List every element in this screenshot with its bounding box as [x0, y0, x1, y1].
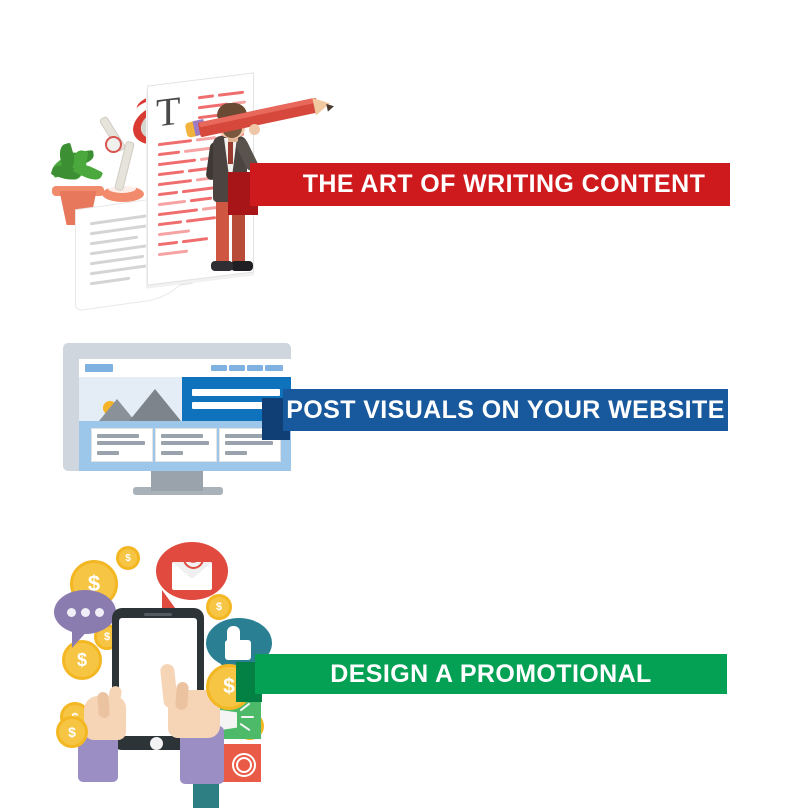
hand-holding-pencil — [249, 124, 260, 135]
shoe-front — [211, 261, 233, 271]
shoe-back — [231, 261, 253, 271]
monitor-screen — [79, 359, 291, 471]
banner-step-1[interactable]: THE ART OF WRITING CONTENT — [250, 163, 730, 206]
mountain-icon — [129, 389, 181, 421]
banner-label-step-3: DESIGN A PROMOTIONAL — [330, 660, 651, 689]
leaf-icon — [73, 160, 103, 183]
infographic-canvas: T — [0, 0, 800, 800]
touch-target-ring-inner — [236, 757, 252, 773]
tie — [228, 142, 233, 164]
website-card-row — [79, 421, 291, 471]
lamp-joint — [105, 136, 122, 153]
dollar-coin-icon: $ — [116, 546, 140, 570]
monitor-frame — [63, 343, 291, 471]
pencil-lead — [326, 102, 335, 111]
tablet-speaker — [144, 613, 172, 616]
banner-label-step-1: THE ART OF WRITING CONTENT — [275, 170, 706, 199]
nav-menu-item[interactable] — [269, 365, 283, 371]
website-logo — [85, 364, 113, 372]
drop-cap-letter: T — [156, 90, 180, 133]
dollar-coin-icon: $ — [206, 594, 232, 620]
website-card[interactable] — [91, 428, 153, 462]
website-card[interactable] — [155, 428, 217, 462]
monitor-neck — [151, 471, 203, 491]
right-finger — [175, 682, 189, 711]
banner-step-3[interactable]: DESIGN A PROMOTIONAL — [255, 654, 727, 694]
thumb-up-fist — [225, 640, 251, 660]
chat-dot — [95, 608, 104, 617]
nav-menu-item[interactable] — [229, 365, 245, 371]
nav-menu-item[interactable] — [247, 365, 263, 371]
panel-text-bar — [192, 389, 280, 396]
banner-step-2[interactable]: POST VISUALS ON YOUR WEBSITE — [283, 389, 728, 431]
banner-label-step-2: POST VISUALS ON YOUR WEBSITE — [286, 396, 725, 425]
chat-dot — [81, 608, 90, 617]
at-symbol-icon: @ — [183, 548, 204, 569]
chat-bubble-tail — [72, 628, 90, 648]
left-finger — [97, 692, 110, 719]
tablet-home-button[interactable] — [150, 737, 163, 750]
megaphone-ray — [241, 716, 254, 718]
chat-dot — [67, 608, 76, 617]
nav-menu-item[interactable] — [211, 365, 227, 371]
website-nav-bar — [79, 359, 291, 377]
dollar-coin-icon: $ — [56, 716, 88, 748]
